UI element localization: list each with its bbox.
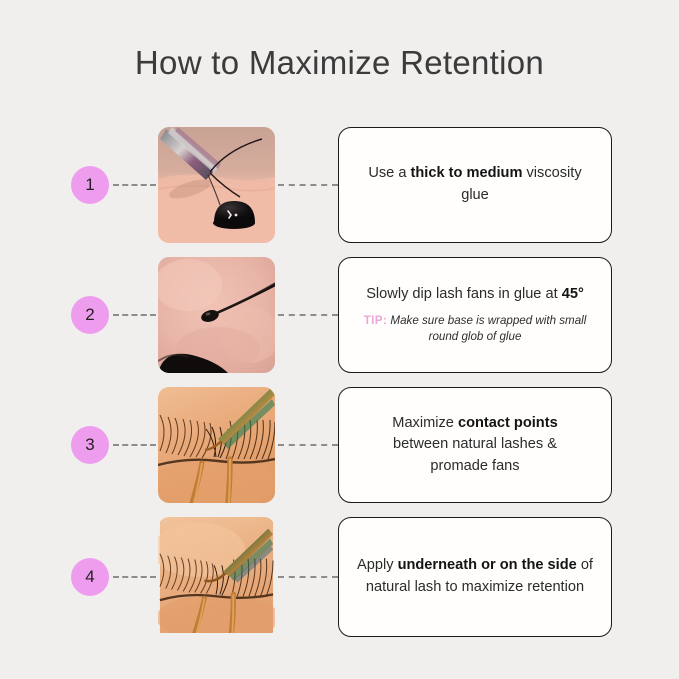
step-instruction-emphasis: 45° [562,286,584,302]
steps-list: 1 [0,127,679,651]
step-text-card: Apply underneath or on the side of natur… [338,517,612,637]
tip-text: Make sure base is wrapped with small rou… [390,314,586,343]
step-instruction: Slowly dip lash fans in glue at 45° [366,284,584,306]
step-instruction-emphasis: thick to medium [411,165,523,181]
apply-underneath-natural-lash-icon [158,517,275,633]
step-instruction: Apply underneath or on the side of natur… [353,555,597,598]
infographic-root: How to Maximize Retention 1 [0,0,679,679]
connector-line-left [113,314,156,316]
step-row: 1 [0,127,679,243]
connector-line-right [278,444,338,446]
step-text-card: Slowly dip lash fans in glue at 45° TIP:… [338,257,612,373]
step-number-badge: 1 [71,166,109,204]
step-number-label: 1 [85,175,94,195]
step-photo [158,127,275,243]
step-instruction: Use a thick to medium viscosity glue [353,163,597,206]
connector-line-left [113,576,156,578]
connector-line-left [113,444,156,446]
step-number-badge: 2 [71,296,109,334]
step-photo [158,257,275,373]
step-tip: TIP: Make sure base is wrapped with smal… [353,313,597,346]
step-number-badge: 4 [71,558,109,596]
page-title: How to Maximize Retention [0,44,679,82]
connector-line-right [278,184,338,186]
step-instruction-emphasis: underneath or on the side [398,557,577,573]
tweezers-glue-drop-icon [158,127,275,243]
lash-fan-glue-glob-icon [158,257,275,373]
connector-line-right [278,314,338,316]
step-photo [158,387,275,503]
tip-label: TIP: [364,314,388,327]
connector-line-left [113,184,156,186]
step-text-card: Maximize contact pointsbetween natural l… [338,387,612,503]
step-row: 3 [0,387,679,503]
lash-isolation-contact-points-icon [158,387,275,503]
step-instruction-emphasis: contact points [458,415,558,431]
step-row: 2 [0,257,679,373]
step-number-label: 4 [85,567,94,587]
step-instruction: Maximize contact pointsbetween natural l… [392,413,557,478]
step-text-card: Use a thick to medium viscosity glue [338,127,612,243]
step-row: 4 [0,517,679,637]
step-photo [158,517,275,637]
step-number-label: 2 [85,305,94,325]
connector-line-right [278,576,338,578]
step-number-badge: 3 [71,426,109,464]
step-number-label: 3 [85,435,94,455]
